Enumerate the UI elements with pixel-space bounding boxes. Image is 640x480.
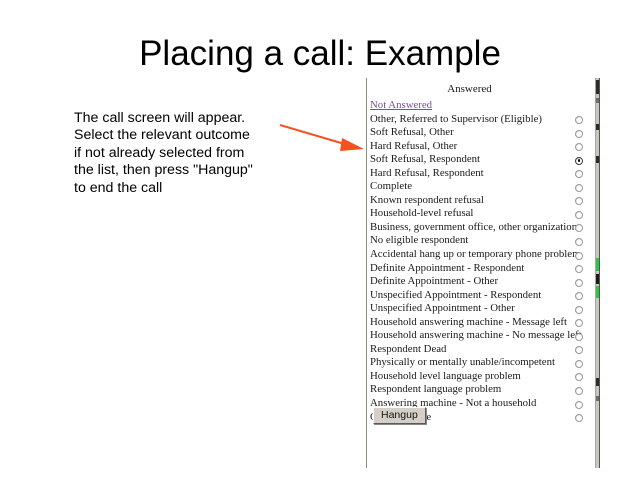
outcome-radio[interactable]: [575, 360, 583, 368]
list-item[interactable]: Business, government office, other organ…: [367, 221, 596, 235]
page-title: Placing a call: Example: [0, 34, 640, 74]
outcome-radio[interactable]: [575, 238, 583, 246]
list-item[interactable]: Unspecified Appointment - Other: [367, 302, 596, 316]
outcome-radio[interactable]: [575, 292, 583, 300]
outcome-label: Household level language problem: [370, 370, 521, 384]
outcome-label: Unspecified Appointment - Other: [370, 302, 515, 316]
outcome-radio[interactable]: [575, 197, 583, 205]
scrollbar-mark: [596, 258, 599, 271]
list-item[interactable]: Hard Refusal, Respondent: [367, 167, 596, 181]
scrollbar-mark: [596, 98, 599, 103]
outcome-radio[interactable]: [575, 265, 583, 273]
outcome-label: Known respondent refusal: [370, 194, 484, 208]
list-item[interactable]: Respondent Dead: [367, 343, 596, 357]
outcome-radio[interactable]: [575, 184, 583, 192]
call-screen-content: Answered Not Answered Other, Referred to…: [367, 78, 599, 468]
list-item[interactable]: No eligible respondent: [367, 234, 596, 248]
outcome-radio[interactable]: [575, 279, 583, 287]
scrollbar-mark: [596, 274, 599, 284]
scrollbar-mark: [596, 80, 599, 94]
outcome-radio[interactable]: [575, 414, 583, 422]
outcome-label: Definite Appointment - Respondent: [370, 262, 524, 276]
body-line-4: the list, then press "Hangup": [74, 162, 284, 179]
list-item[interactable]: Household answering machine - Message le…: [367, 316, 596, 330]
list-item-not-answered[interactable]: Not Answered: [367, 99, 596, 113]
list-item[interactable]: Unspecified Appointment - Respondent: [367, 289, 596, 303]
outcome-radio[interactable]: [575, 306, 583, 314]
outcome-radio-selected[interactable]: [575, 157, 583, 165]
outcome-radio[interactable]: [575, 401, 583, 409]
scrollbar-mark: [596, 286, 599, 298]
outcome-label: Other, Referred to Supervisor (Eligible): [370, 113, 542, 127]
not-answered-link[interactable]: Not Answered: [370, 99, 432, 113]
body-line-5: to end the call: [74, 180, 284, 197]
outcome-label: Soft Refusal, Respondent: [370, 153, 480, 167]
scrollbar-mark: [596, 396, 599, 401]
body-line-3: if not already selected from: [74, 145, 284, 162]
outcome-radio[interactable]: [575, 211, 583, 219]
vertical-scrollbar[interactable]: [595, 78, 599, 468]
outcome-radio[interactable]: [575, 333, 583, 341]
outcome-radio[interactable]: [575, 319, 583, 327]
scrollbar-mark: [596, 124, 599, 130]
list-item[interactable]: Definite Appointment - Respondent: [367, 262, 596, 276]
scrollbar-mark: [596, 156, 599, 163]
outcome-label: Definite Appointment - Other: [370, 275, 498, 289]
outcome-list[interactable]: Not Answered Other, Referred to Supervis…: [367, 99, 596, 424]
outcome-label: Hard Refusal, Other: [370, 140, 457, 154]
outcome-label: Business, government office, other organ…: [370, 221, 577, 235]
list-item[interactable]: Accidental hang up or temporary phone pr…: [367, 248, 596, 262]
outcome-radio[interactable]: [575, 116, 583, 124]
outcome-radio[interactable]: [575, 224, 583, 232]
call-screen-panel: Answered Not Answered Other, Referred to…: [366, 78, 600, 468]
outcome-label: Accidental hang up or temporary phone pr…: [370, 248, 580, 262]
list-item-selected[interactable]: Soft Refusal, Respondent: [367, 153, 596, 167]
outcome-label: No eligible respondent: [370, 234, 468, 248]
outcome-label: Household answering machine - Message le…: [370, 316, 567, 330]
outcome-radio[interactable]: [575, 252, 583, 260]
scrollbar-mark: [596, 378, 599, 386]
outcome-radio[interactable]: [575, 143, 583, 151]
outcome-label: Complete: [370, 180, 412, 194]
list-item[interactable]: Household level language problem: [367, 370, 596, 384]
list-item[interactable]: Household answering machine - No message…: [367, 329, 596, 343]
outcome-radio[interactable]: [575, 346, 583, 354]
outcome-label: Respondent Dead: [370, 343, 446, 357]
outcome-radio[interactable]: [575, 130, 583, 138]
pointer-arrow-icon: [278, 118, 368, 160]
body-line-2: Select the relevant outcome: [74, 127, 284, 144]
list-item[interactable]: Soft Refusal, Other: [367, 126, 596, 140]
list-item[interactable]: Other, Referred to Supervisor (Eligible): [367, 113, 596, 127]
outcome-label: Respondent language problem: [370, 383, 501, 397]
answered-heading: Answered: [367, 83, 572, 95]
outcome-label: Unspecified Appointment - Respondent: [370, 289, 541, 303]
outcome-label: Physically or mentally unable/incompeten…: [370, 356, 555, 370]
outcome-radio[interactable]: [575, 373, 583, 381]
body-line-1: The call screen will appear.: [74, 110, 284, 127]
list-item[interactable]: Respondent language problem: [367, 383, 596, 397]
list-item[interactable]: Definite Appointment - Other: [367, 275, 596, 289]
outcome-radio[interactable]: [575, 170, 583, 178]
list-item[interactable]: Physically or mentally unable/incompeten…: [367, 356, 596, 370]
outcome-radio[interactable]: [575, 387, 583, 395]
outcome-label: Soft Refusal, Other: [370, 126, 454, 140]
outcome-label: Hard Refusal, Respondent: [370, 167, 484, 181]
list-item[interactable]: Complete: [367, 180, 596, 194]
explanatory-text: The call screen will appear. Select the …: [74, 110, 284, 197]
outcome-label: Household answering machine - No message…: [370, 329, 582, 343]
hangup-button[interactable]: Hangup: [373, 407, 426, 424]
list-item[interactable]: Known respondent refusal: [367, 194, 596, 208]
list-item[interactable]: Hard Refusal, Other: [367, 140, 596, 154]
outcome-label: Household-level refusal: [370, 207, 473, 221]
list-item[interactable]: Household-level refusal: [367, 207, 596, 221]
